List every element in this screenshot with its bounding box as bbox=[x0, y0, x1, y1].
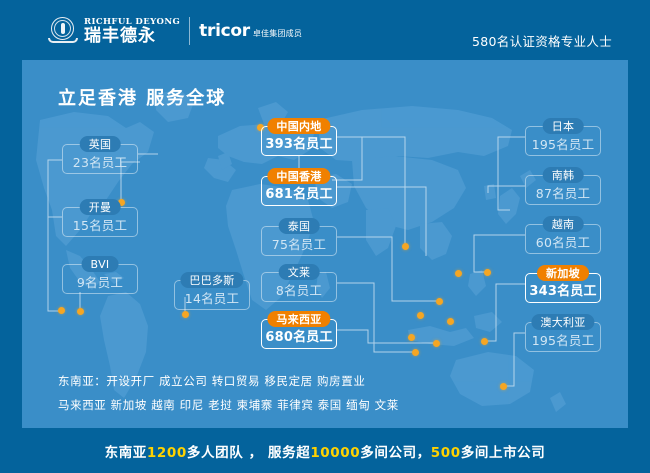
location-employee-count: 87名员工 bbox=[536, 187, 590, 201]
map-location-dot bbox=[484, 269, 491, 276]
partner-logo: tricor 卓佳集团成员 bbox=[199, 22, 302, 40]
location-employee-count: 393名员工 bbox=[265, 138, 332, 152]
map-location-dot bbox=[447, 318, 454, 325]
location-employee-count: 23名员工 bbox=[73, 156, 127, 170]
footer-text-segment: 多人团队 ， 服务超 bbox=[187, 445, 310, 461]
location-employee-count: 681名员工 bbox=[265, 188, 332, 202]
map-location-dot bbox=[58, 307, 65, 314]
location-employee-count: 60名员工 bbox=[536, 236, 590, 250]
location-employee-count: 15名员工 bbox=[73, 219, 127, 233]
footer-highlight-number: 500 bbox=[431, 445, 461, 461]
location-name-badge: 越南 bbox=[543, 216, 584, 232]
brand-names: RICHFUL DEYONG 瑞丰德永 bbox=[84, 17, 180, 46]
page-header: RICHFUL DEYONG 瑞丰德永 tricor 卓佳集团成员 580名认证… bbox=[0, 0, 650, 58]
partner-name-chinese: 卓佳集团成员 bbox=[253, 28, 302, 40]
location-name-badge: BVI bbox=[82, 256, 119, 272]
footer-text-segment: 东南亚 bbox=[105, 445, 147, 461]
map-location-dot bbox=[433, 340, 440, 347]
location-name-badge: 英国 bbox=[80, 136, 121, 152]
location-name-badge: 日本 bbox=[543, 118, 584, 134]
location-employee-count: 9名员工 bbox=[77, 276, 123, 290]
note-line-2: 马来西亚 新加坡 越南 印尼 老挝 柬埔寨 菲律宾 泰国 缅甸 文莱 bbox=[58, 397, 399, 413]
map-location-dot bbox=[402, 243, 409, 250]
location-employee-count: 680名员工 bbox=[265, 331, 332, 345]
location-box[interactable]: 75名员工泰国 bbox=[261, 218, 337, 256]
location-box[interactable]: 60名员工越南 bbox=[525, 216, 601, 254]
partner-name-english: tricor bbox=[199, 22, 250, 40]
footer-text-segment: 多间公司， bbox=[360, 445, 431, 461]
location-name-badge: 巴巴多斯 bbox=[180, 272, 243, 288]
location-employee-count: 75名员工 bbox=[272, 238, 326, 252]
footer-highlight-number: 10000 bbox=[310, 445, 360, 461]
location-employee-count: 8名员工 bbox=[276, 284, 322, 298]
page-footer: 东南亚1200多人团队 ， 服务超10000多间公司，500多间上市公司 bbox=[0, 428, 650, 473]
map-location-dot bbox=[77, 308, 84, 315]
location-employee-count: 14名员工 bbox=[185, 292, 239, 306]
location-name-badge: 中国香港 bbox=[267, 168, 330, 184]
location-box[interactable]: 195名员工日本 bbox=[525, 118, 601, 156]
map-location-dot bbox=[481, 338, 488, 345]
footer-highlight-number: 1200 bbox=[147, 445, 187, 461]
header-tagline: 580名认证资格专业人士 bbox=[472, 31, 612, 50]
map-location-dot bbox=[408, 334, 415, 341]
map-location-dot bbox=[182, 311, 189, 318]
location-name-badge: 马来西亚 bbox=[267, 311, 330, 327]
map-location-dot bbox=[500, 383, 507, 390]
location-box[interactable]: 87名员工南韩 bbox=[525, 167, 601, 205]
location-box[interactable]: 9名员工BVI bbox=[62, 256, 138, 294]
location-box[interactable]: 681名员工中国香港 bbox=[261, 168, 337, 206]
location-name-badge: 南韩 bbox=[543, 167, 584, 183]
location-employee-count: 343名员工 bbox=[529, 285, 596, 299]
location-name-badge: 开曼 bbox=[80, 199, 121, 215]
location-name-badge: 新加坡 bbox=[537, 265, 589, 281]
map-location-dot bbox=[417, 312, 424, 319]
location-name-badge: 文莱 bbox=[279, 264, 320, 280]
crest-emblem-icon bbox=[48, 16, 78, 46]
location-employee-count: 195名员工 bbox=[532, 334, 595, 348]
location-box[interactable]: 15名员工开曼 bbox=[62, 199, 138, 237]
location-box[interactable]: 14名员工巴巴多斯 bbox=[174, 272, 250, 310]
location-name-badge: 中国内地 bbox=[267, 118, 330, 134]
note-line-1: 东南亚：开设开厂 成立公司 转口贸易 移民定居 购房置业 bbox=[58, 373, 365, 389]
location-box[interactable]: 343名员工新加坡 bbox=[525, 265, 601, 303]
footer-text-segment: 多间上市公司 bbox=[461, 445, 546, 461]
map-location-dot bbox=[455, 270, 462, 277]
map-location-dot bbox=[436, 298, 443, 305]
location-employee-count: 195名员工 bbox=[532, 138, 595, 152]
location-name-badge: 泰国 bbox=[279, 218, 320, 234]
location-box[interactable]: 23名员工英国 bbox=[62, 136, 138, 174]
brand-name-chinese: 瑞丰德永 bbox=[84, 27, 180, 46]
location-box[interactable]: 195名员工澳大利亚 bbox=[525, 314, 601, 352]
brand-name-english: RICHFUL DEYONG bbox=[84, 17, 180, 27]
brand-divider bbox=[189, 17, 190, 45]
panel-title: 立足香港 服务全球 bbox=[58, 84, 226, 110]
location-box[interactable]: 393名员工中国内地 bbox=[261, 118, 337, 156]
footer-summary-text: 东南亚1200多人团队 ， 服务超10000多间公司，500多间上市公司 bbox=[105, 441, 546, 461]
world-map-panel: 立足香港 服务全球 23名员工英国15名员工开曼9名员工BVI14名员工巴巴多斯… bbox=[22, 60, 628, 428]
brand-logo: RICHFUL DEYONG 瑞丰德永 tricor 卓佳集团成员 bbox=[48, 14, 302, 48]
location-box[interactable]: 8名员工文莱 bbox=[261, 264, 337, 302]
map-location-dot bbox=[412, 349, 419, 356]
location-name-badge: 澳大利亚 bbox=[531, 314, 594, 330]
location-box[interactable]: 680名员工马来西亚 bbox=[261, 311, 337, 349]
